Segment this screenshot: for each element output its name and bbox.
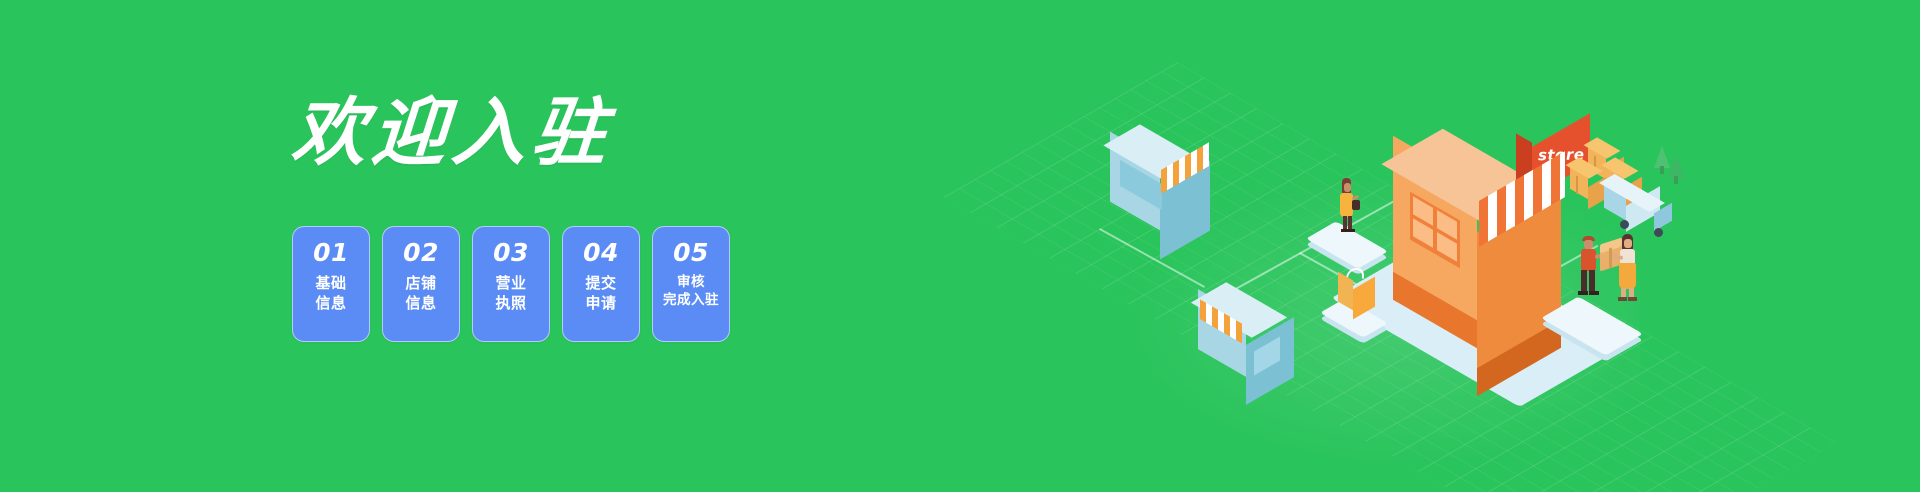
page-title: 欢迎入驻 <box>289 96 814 170</box>
step-label-line1: 审核 <box>653 274 729 292</box>
step-item-05[interactable]: 05 审核 完成入驻 <box>652 226 730 342</box>
step-number: 02 <box>403 240 439 265</box>
step-label: 店铺 信息 <box>385 274 457 314</box>
step-item-04[interactable]: 04 提交 申请 <box>562 226 640 342</box>
step-number: 03 <box>493 240 529 265</box>
step-label-line2: 执照 <box>475 294 547 314</box>
step-item-03[interactable]: 03 营业 执照 <box>472 226 550 342</box>
welcome-banner: store <box>0 0 1920 492</box>
step-item-02[interactable]: 02 店铺 信息 <box>382 226 460 342</box>
step-label: 审核 完成入驻 <box>653 274 729 310</box>
step-number: 04 <box>583 240 619 265</box>
step-label: 提交 申请 <box>565 274 637 314</box>
step-label: 基础 信息 <box>295 274 367 314</box>
step-label-line2: 完成入驻 <box>653 292 729 310</box>
step-list: 01 基础 信息 02 店铺 信息 03 营业 执照 04 提交 申请 <box>292 226 730 342</box>
step-label: 营业 执照 <box>475 274 547 314</box>
step-label-line1: 基础 <box>295 274 367 294</box>
step-label-line1: 提交 <box>565 274 637 294</box>
banner-text-block: 欢迎入驻 <box>292 96 812 170</box>
step-label-line1: 营业 <box>475 274 547 294</box>
step-number: 01 <box>313 240 349 265</box>
step-label-line2: 信息 <box>385 294 457 314</box>
step-label-line1: 店铺 <box>385 274 457 294</box>
step-label-line2: 申请 <box>565 294 637 314</box>
step-item-01[interactable]: 01 基础 信息 <box>292 226 370 342</box>
step-label-line2: 信息 <box>295 294 367 314</box>
step-number: 05 <box>673 240 709 265</box>
